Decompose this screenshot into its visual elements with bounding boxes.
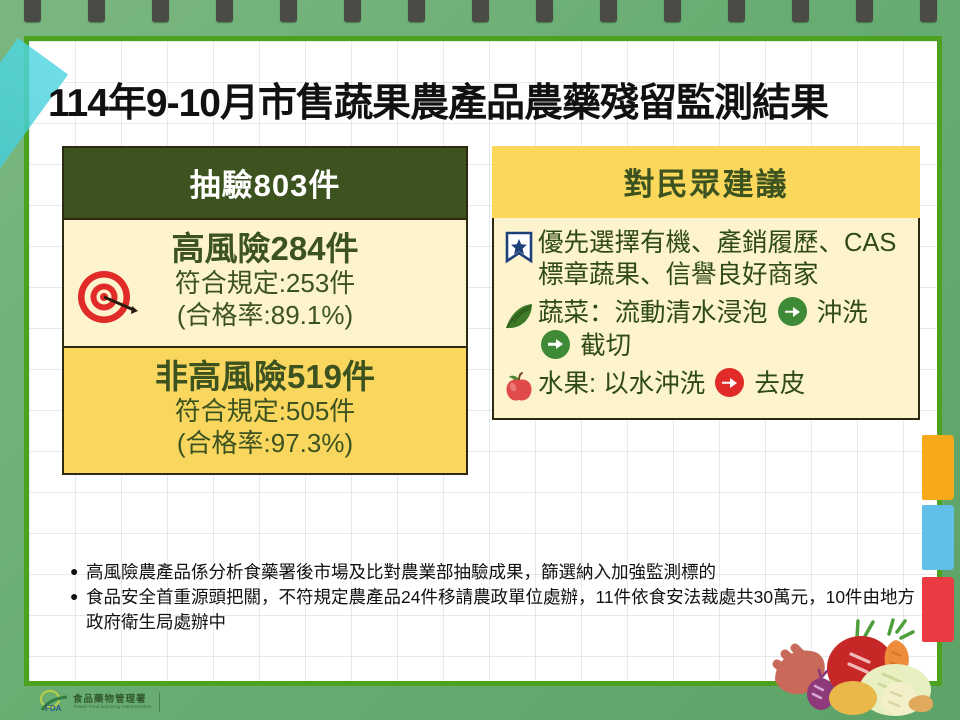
fda-name-en: Taiwan Food and Drug Administration [73,705,151,710]
bookmark-star-icon [502,230,536,264]
bullet-glyph-2: ● [70,585,86,607]
non-high-risk-count: 非高風險519件 [64,358,466,396]
high-risk-count: 高風險284件 [64,230,466,268]
public-advice-panel: 對民眾建議 優先選擇有機、產銷履歷、CAS 標章蔬果、信譽良好商家 蔬菜：流動 [492,146,920,420]
footnotes: ● 高風險農產品係分析食藥署後市場及比對農業部抽驗成果，篩選納入加強監測標的 ●… [70,560,930,635]
svg-text:FDA: FDA [45,704,62,713]
page-title: 114年9-10月市售蔬果農產品農藥殘留監測結果 [48,72,950,128]
edge-tab-orange[interactable] [922,435,954,500]
leaf-vegetable-icon [502,299,536,333]
poster-root: 114年9-10月市售蔬果農產品農藥殘留監測結果 抽驗803件 高風險284件 … [0,0,960,720]
veg-step-2: 沖洗 [810,299,868,327]
advice-header: 對民眾建議 [492,146,920,218]
fruit-step-1: 水果: 以水沖洗 [538,370,712,398]
sampling-results-panel: 抽驗803件 高風險284件 符合規定:253件 (合格率:89.1%) 非高風… [62,146,468,475]
spiral-ring [664,0,681,22]
fda-logo-icon: FDA [40,690,70,714]
advice-list: 優先選擇有機、產銷履歷、CAS 標章蔬果、信譽良好商家 蔬菜：流動清水浸泡 沖洗… [492,218,920,420]
footnote-row-2: ● 食品安全首重源頭把關，不符規定農產品24件移請農政單位處辦，11件依食安法裁… [70,585,930,635]
veg-step-3: 截切 [573,332,631,360]
spiral-ring [728,0,745,22]
spiral-ring [88,0,105,22]
spiral-ring [856,0,873,22]
spiral-ring [216,0,233,22]
advice-item-organic: 優先選擇有機、產銷履歷、CAS 標章蔬果、信譽良好商家 [502,228,908,291]
spiral-binding [0,0,960,40]
non-high-risk-block: 非高風險519件 符合規定:505件 (合格率:97.3%) [64,346,466,474]
spiral-ring [408,0,425,22]
spiral-ring [24,0,41,22]
bullet-glyph-1: ● [70,560,86,582]
spiral-ring [600,0,617,22]
spiral-ring [536,0,553,22]
arrow-right-icon-1 [778,297,807,326]
fda-logo: FDA 食品藥物管理署 Taiwan Food and Drug Adminis… [40,690,160,714]
advice-text-fruit: 水果: 以水沖洗 去皮 [538,368,908,401]
fruit-step-2: 去皮 [747,370,805,398]
logo-divider [159,692,160,712]
advice-text-vegetables: 蔬菜：流動清水浸泡 沖洗 截切 [538,297,908,362]
spiral-ring [792,0,809,22]
target-bullseye-icon [76,266,138,328]
footnote-row-1: ● 高風險農產品係分析食藥署後市場及比對農業部抽驗成果，篩選納入加強監測標的 [70,560,930,585]
spiral-ring [344,0,361,22]
spiral-ring [280,0,297,22]
advice-item-fruit: 水果: 以水沖洗 去皮 [502,368,908,404]
veg-step-1: 蔬菜：流動清水浸泡 [538,299,775,327]
sampling-total-header: 抽驗803件 [64,148,466,218]
advice-item-vegetables: 蔬菜：流動清水浸泡 沖洗 截切 [502,297,908,362]
spiral-ring [472,0,489,22]
non-high-risk-compliant: 符合規定:505件 [64,396,466,428]
high-risk-block: 高風險284件 符合規定:253件 (合格率:89.1%) [64,218,466,346]
spiral-ring [152,0,169,22]
arrow-right-icon-3 [715,368,744,397]
arrow-right-icon-2 [541,330,570,359]
spiral-ring [920,0,937,22]
footnote-text-2: 食品安全首重源頭把關，不符規定農產品24件移請農政單位處辦，11件依食安法裁處共… [86,585,930,635]
apple-fruit-icon [502,370,536,404]
advice-text-organic: 優先選擇有機、產銷履歷、CAS 標章蔬果、信譽良好商家 [538,228,908,291]
non-high-risk-pass-rate: (合格率:97.3%) [64,428,466,460]
footnote-text-1: 高風險農產品係分析食藥署後市場及比對農業部抽驗成果，篩選納入加強監測標的 [86,560,930,585]
